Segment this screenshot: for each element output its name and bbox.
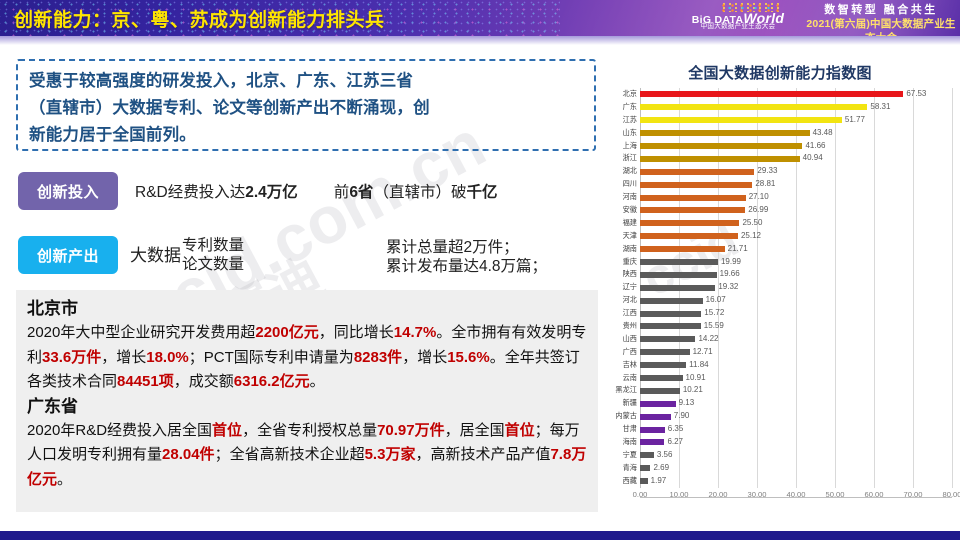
bj-l1-b: ，同比增长 <box>319 324 394 341</box>
chart-value-label: 10.21 <box>683 384 703 397</box>
innovation-output-row: 创新产出 大数据 专利数量 论文数量 累计总量超2万件； 累计发布量达4.8万篇… <box>18 236 618 274</box>
beijing-paragraph: 2020年大中型企业研究开发费用超2200亿元，同比增长14.7%。全市拥有有效… <box>27 321 588 395</box>
chart-bar-row: 天津25.12 <box>640 230 952 243</box>
chart-category-label: 福建 <box>603 217 640 230</box>
chart-bar-row: 甘肃6.35 <box>640 423 952 436</box>
investment-metric-1: R&D经费投入达2.4万亿 <box>135 180 298 202</box>
lead-line-1: 受惠于较高强度的研发投入，北京、广东、江苏三省 <box>29 68 584 95</box>
bj-l2-patents: 33.6万件 <box>42 349 101 366</box>
chart-bar <box>640 311 701 317</box>
chart-bar <box>640 427 665 433</box>
beijing-heading: 北京市 <box>27 297 588 321</box>
output-right-group: 累计总量超2万件； 累计发布量达4.8万篇； <box>386 238 547 276</box>
chart-category-label: 北京 <box>603 88 640 101</box>
chart-bar-row: 广西12.71 <box>640 346 952 359</box>
city-detail-box: 北京市 2020年大中型企业研究开发费用超2200亿元，同比增长14.7%。全市… <box>16 290 598 512</box>
chart-category-label: 海南 <box>603 436 640 449</box>
chart-category-label: 黑龙江 <box>603 384 640 397</box>
chart-category-label: 安徽 <box>603 204 640 217</box>
chart-value-label: 26.99 <box>748 204 768 217</box>
investment-metric-2-count: 6省 <box>349 184 373 201</box>
chart-category-label: 湖南 <box>603 243 640 256</box>
bj-l3-growth: 15.6% <box>447 349 490 366</box>
chart-value-label: 3.56 <box>657 449 673 462</box>
chart-gridline <box>952 88 953 488</box>
investment-metric-1-value: 2.4万亿 <box>245 184 298 201</box>
output-left-group: 大数据 专利数量 论文数量 <box>130 236 244 274</box>
investment-metric-2-value: 千亿 <box>466 184 497 201</box>
chart-x-tick-label: 70.00 <box>903 490 922 499</box>
chart-category-label: 辽宁 <box>603 281 640 294</box>
chart-value-label: 29.33 <box>757 165 777 178</box>
bj-l2-b: ，增长 <box>101 349 146 366</box>
chart-title: 全国大数据创新能力指数图 <box>604 62 956 83</box>
chart-bar-row: 广东58.31 <box>640 101 952 114</box>
chart-bar-rows: 北京67.53广东58.31江苏51.77山东43.48上海41.66浙江40.… <box>640 88 952 488</box>
lead-line-3: 新能力居于全国前列。 <box>29 122 584 149</box>
chart-category-label: 四川 <box>603 178 640 191</box>
chart-x-tick-label: 30.00 <box>747 490 766 499</box>
chart-value-label: 6.35 <box>668 423 684 436</box>
chart-bar-row: 湖北29.33 <box>640 165 952 178</box>
bj-l1-growth: 14.7% <box>394 324 437 341</box>
chart-category-label: 天津 <box>603 230 640 243</box>
chart-value-label: 25.50 <box>742 217 762 230</box>
chart-category-label: 河南 <box>603 191 640 204</box>
chart-bar-row: 云南10.91 <box>640 372 952 385</box>
chart-bar <box>640 207 745 213</box>
chart-bar <box>640 323 701 329</box>
gd-l2-per10k: 28.04件 <box>162 446 215 463</box>
output-value-papers: 累计发布量达4.8万篇； <box>386 257 547 276</box>
chart-category-label: 广东 <box>603 101 640 114</box>
investment-metric-2-mid: （直辖市）破 <box>373 184 466 201</box>
conference-title-block: 数智转型 融合共生 2021(第六届)中国大数据产业生态大会 <box>806 3 956 36</box>
gd-l2-rank: 首位 <box>505 422 535 439</box>
chart-bar <box>640 117 842 123</box>
bj-l2-c: ；PCT国际专利申 <box>189 349 309 366</box>
chart-category-label: 云南 <box>603 372 640 385</box>
output-bigdata-label: 大数据 <box>130 246 181 265</box>
chart-value-label: 40.94 <box>803 152 823 165</box>
chart-bar <box>640 233 738 239</box>
chart-bar-row: 上海41.66 <box>640 140 952 153</box>
investment-metric-2-prefix: 前 <box>334 184 350 201</box>
gd-l3-b: ，高新技术产品产值 <box>415 446 550 463</box>
chart-value-label: 19.32 <box>718 281 738 294</box>
conference-slogan: 数智转型 融合共生 <box>806 3 956 17</box>
chart-x-tick-label: 40.00 <box>786 490 805 499</box>
chart-bar <box>640 388 680 394</box>
gd-l1-patents: 70.97万件 <box>377 422 445 439</box>
chart-value-label: 9.13 <box>679 397 695 410</box>
chart-category-label: 西藏 <box>603 475 640 488</box>
chart-category-label: 河北 <box>603 294 640 307</box>
bj-l4-a: ，成交额 <box>174 373 234 390</box>
chart-bar-row: 四川28.81 <box>640 178 952 191</box>
logo-line-2: 中国大数据产业生态大会 <box>679 24 797 31</box>
gd-l1-a: 2020年R&D经费投入居全国 <box>27 422 212 439</box>
chart-bar <box>640 91 903 97</box>
investment-metric-2: 前6省（直辖市）破千亿 <box>334 180 498 202</box>
chart-bar-row: 湖南21.71 <box>640 243 952 256</box>
chart-bar <box>640 336 695 342</box>
bj-l3-contracts: 84451 <box>117 373 159 390</box>
bj-l3-pct: 8283件 <box>354 349 402 366</box>
chart-value-label: 19.66 <box>720 268 740 281</box>
chart-category-label: 内蒙古 <box>603 410 640 423</box>
chart-x-tick-label: 20.00 <box>708 490 727 499</box>
chart-category-label: 新疆 <box>603 397 640 410</box>
output-value-patents: 累计总量超2万件； <box>386 238 547 257</box>
chart-bar <box>640 259 718 265</box>
chart-x-axis-labels: 0.0010.0020.0030.0040.0050.0060.0070.008… <box>640 488 952 504</box>
chart-value-label: 1.97 <box>651 475 667 488</box>
chart-value-label: 28.81 <box>755 178 775 191</box>
chart-bar <box>640 285 715 291</box>
chart-bar <box>640 246 725 252</box>
chart-bar-row: 河南27.10 <box>640 191 952 204</box>
chart-value-label: 7.90 <box>674 410 690 423</box>
chart-value-label: 58.31 <box>870 101 890 114</box>
chart-bar-row: 江苏51.77 <box>640 114 952 127</box>
badge-innovation-investment: 创新投入 <box>18 172 118 210</box>
lead-paragraph-box: 受惠于较高强度的研发投入，北京、广东、江苏三省 （直辖市）大数据专利、论文等创新… <box>16 59 596 151</box>
chart-category-label: 宁夏 <box>603 449 640 462</box>
chart-value-label: 41.66 <box>805 140 825 153</box>
chart-bar <box>640 220 739 226</box>
chart-category-label: 广西 <box>603 346 640 359</box>
chart-bar <box>640 452 654 458</box>
lead-line-2: （直辖市）大数据专利、论文等创新产出不断涌现，创 <box>29 95 584 122</box>
chart-bar-row: 宁夏3.56 <box>640 449 952 462</box>
chart-bar-row: 浙江40.94 <box>640 152 952 165</box>
chart-bar <box>640 414 671 420</box>
chart-bar <box>640 156 800 162</box>
chart-category-label: 上海 <box>603 140 640 153</box>
chart-value-label: 51.77 <box>845 114 865 127</box>
chart-value-label: 15.72 <box>704 307 724 320</box>
chart-bar <box>640 362 686 368</box>
gd-l1-rank: 首位 <box>212 422 242 439</box>
slide-header: 创新能力：京、粤、苏成为创新能力排头兵 BiG DATAWorld 中国大数据产… <box>0 0 960 36</box>
bj-l1-c: 。 <box>436 324 451 341</box>
chart-value-label: 16.07 <box>706 294 726 307</box>
chart-bar-row: 贵州15.59 <box>640 320 952 333</box>
chart-bar-row: 山西14.22 <box>640 333 952 346</box>
bigdata-world-logo: BiG DATAWorld 中国大数据产业生态大会 <box>679 3 797 33</box>
innovation-investment-row: 创新投入 R&D经费投入达2.4万亿 前6省（直辖市）破千亿 <box>18 172 618 210</box>
chart-bar-row: 河北16.07 <box>640 294 952 307</box>
bj-l1-rd-value: 2200亿元 <box>255 324 318 341</box>
chart-plot-area: 北京67.53广东58.31江苏51.77山东43.48上海41.66浙江40.… <box>640 88 952 488</box>
chart-x-tick-label: 50.00 <box>825 490 844 499</box>
gd-l3-a: 企业超 <box>320 446 365 463</box>
gd-l2-c: ；全省高新技术 <box>215 446 320 463</box>
output-pair-group: 专利数量 论文数量 <box>181 236 244 274</box>
chart-bar <box>640 143 802 149</box>
chart-bar <box>640 298 703 304</box>
chart-bar <box>640 439 664 445</box>
chart-bar <box>640 130 810 136</box>
chart-value-label: 21.71 <box>728 243 748 256</box>
chart-bar-row: 江西15.72 <box>640 307 952 320</box>
bj-l3-a: 请量为 <box>309 349 354 366</box>
chart-bar-row: 青海2.69 <box>640 462 952 475</box>
bj-l2-growth: 18.0% <box>146 349 189 366</box>
conference-name: 2021(第六届)中国大数据产业生态大会 <box>806 17 956 36</box>
chart-category-label: 贵州 <box>603 320 640 333</box>
chart-category-label: 青海 <box>603 462 640 475</box>
chart-bar <box>640 195 746 201</box>
chart-bar <box>640 375 683 381</box>
chart-x-tick-label: 0.00 <box>633 490 648 499</box>
chart-x-tick-label: 80.00 <box>942 490 960 499</box>
chart-category-label: 山东 <box>603 127 640 140</box>
gd-l1-c: ， <box>445 422 460 439</box>
chart-value-label: 67.53 <box>906 88 926 101</box>
chart-bar <box>640 104 867 110</box>
chart-value-label: 2.69 <box>653 462 669 475</box>
page-title: 创新能力：京、粤、苏成为创新能力排头兵 <box>14 5 385 32</box>
chart-bar-row: 福建25.50 <box>640 217 952 230</box>
bj-l4-unit: 项 <box>159 373 174 390</box>
chart-bar-row: 重庆19.99 <box>640 256 952 269</box>
chart-bar-row: 内蒙古7.90 <box>640 410 952 423</box>
chart-bar-row: 海南6.27 <box>640 436 952 449</box>
slide-footer-bar <box>0 531 960 540</box>
chart-category-label: 吉林 <box>603 359 640 372</box>
gd-l3-firms: 5.3万家 <box>365 446 416 463</box>
bj-l4-amount: 6316.2亿元 <box>234 373 310 390</box>
chart-bar <box>640 401 676 407</box>
chart-value-label: 11.84 <box>689 359 708 372</box>
chart-value-label: 6.27 <box>667 436 683 449</box>
chart-category-label: 浙江 <box>603 152 640 165</box>
chart-bar <box>640 349 690 355</box>
chart-category-label: 重庆 <box>603 256 640 269</box>
header-gradient-fade <box>0 36 960 45</box>
gd-l1-b: ，全省专利授权总量 <box>242 422 377 439</box>
chart-value-label: 15.59 <box>704 320 724 333</box>
chart-category-label: 湖北 <box>603 165 640 178</box>
chart-bar-row: 安徽26.99 <box>640 204 952 217</box>
bj-l4-b: 。 <box>310 373 325 390</box>
chart-bar-row: 新疆9.13 <box>640 397 952 410</box>
chart-bar-row: 陕西19.66 <box>640 268 952 281</box>
chart-value-label: 14.22 <box>698 333 718 346</box>
investment-metric-1-prefix: R&D经费投入达 <box>135 184 245 201</box>
innovation-index-chart: 全国大数据创新能力指数图 北京67.53广东58.31江苏51.77山东43.4… <box>604 62 956 517</box>
chart-x-tick-label: 10.00 <box>669 490 688 499</box>
chart-bar-row: 西藏1.97 <box>640 475 952 488</box>
chart-x-tick-label: 60.00 <box>864 490 883 499</box>
chart-bar-row: 吉林11.84 <box>640 359 952 372</box>
gd-l2-a: 居全国 <box>460 422 505 439</box>
guangdong-paragraph: 2020年R&D经费投入居全国首位，全省专利授权总量70.97万件，居全国首位；… <box>27 419 588 493</box>
chart-bar <box>640 478 648 484</box>
chart-value-label: 12.71 <box>693 346 713 359</box>
chart-value-label: 19.99 <box>721 256 741 269</box>
chart-value-label: 27.10 <box>749 191 769 204</box>
chart-category-label: 陕西 <box>603 268 640 281</box>
chart-bar-row: 北京67.53 <box>640 88 952 101</box>
chart-value-label: 43.48 <box>813 127 833 140</box>
chart-bar-row: 辽宁19.32 <box>640 281 952 294</box>
chart-bar-row: 黑龙江10.21 <box>640 384 952 397</box>
output-pair-patents: 专利数量 <box>182 236 244 255</box>
chart-category-label: 江西 <box>603 307 640 320</box>
bj-l1-a: 2020年大中型企业研究开发费用超 <box>27 324 255 341</box>
chart-value-label: 25.12 <box>741 230 761 243</box>
chart-bar-row: 山东43.48 <box>640 127 952 140</box>
chart-category-label: 甘肃 <box>603 423 640 436</box>
gd-l3-c: 。 <box>57 471 72 488</box>
chart-bar <box>640 272 717 278</box>
guangdong-heading: 广东省 <box>27 395 588 419</box>
slide-root: 创新能力：京、粤、苏成为创新能力排头兵 BiG DATAWorld 中国大数据产… <box>0 0 960 540</box>
chart-value-label: 10.91 <box>686 372 706 385</box>
chart-bar <box>640 169 754 175</box>
bj-l3-b: ，增长 <box>402 349 447 366</box>
badge-innovation-output: 创新产出 <box>18 236 118 274</box>
chart-bar <box>640 182 752 188</box>
chart-bar <box>640 465 650 471</box>
output-pair-papers: 论文数量 <box>182 255 244 274</box>
chart-category-label: 江苏 <box>603 114 640 127</box>
chart-category-label: 山西 <box>603 333 640 346</box>
